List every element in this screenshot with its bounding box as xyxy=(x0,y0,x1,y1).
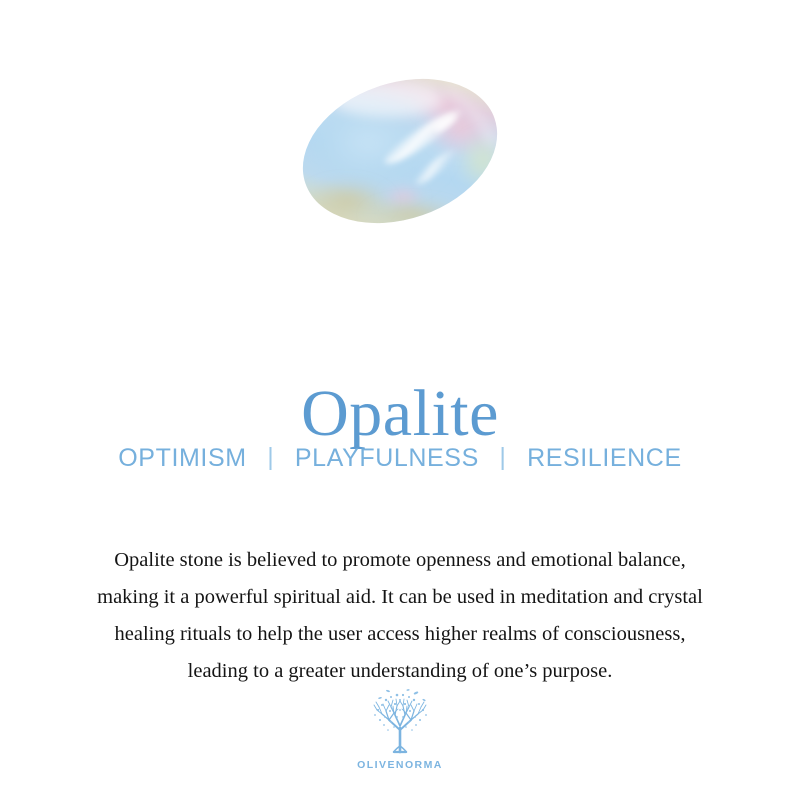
opalite-info-card: Opalite OPTIMISM | PLAYFULNESS | RESILIE… xyxy=(0,0,800,800)
description-line: Opalite stone is believed to promote ope… xyxy=(24,542,776,579)
keyword-row: OPTIMISM | PLAYFULNESS | RESILIENCE xyxy=(0,443,800,474)
opalite-stone-icon xyxy=(295,75,505,227)
keyword-playfulness: PLAYFULNESS xyxy=(295,444,479,472)
description-line: leading to a greater understanding of on… xyxy=(24,653,776,690)
gemstone-image xyxy=(0,68,800,233)
page-title: Opalite xyxy=(0,377,800,451)
description-text: Opalite stone is believed to promote ope… xyxy=(24,542,776,690)
brand-name: OLIVENORMA xyxy=(357,759,443,771)
brand-logo: OLIVENORMA xyxy=(0,686,800,771)
description-line: healing rituals to help the user access … xyxy=(24,616,776,653)
keyword-optimism: OPTIMISM xyxy=(118,444,246,472)
description-line: making it a powerful spiritual aid. It c… xyxy=(24,579,776,616)
tree-icon xyxy=(364,686,436,758)
keyword-separator: | xyxy=(254,442,287,473)
keyword-resilience: RESILIENCE xyxy=(527,444,682,472)
keyword-separator: | xyxy=(486,442,519,473)
